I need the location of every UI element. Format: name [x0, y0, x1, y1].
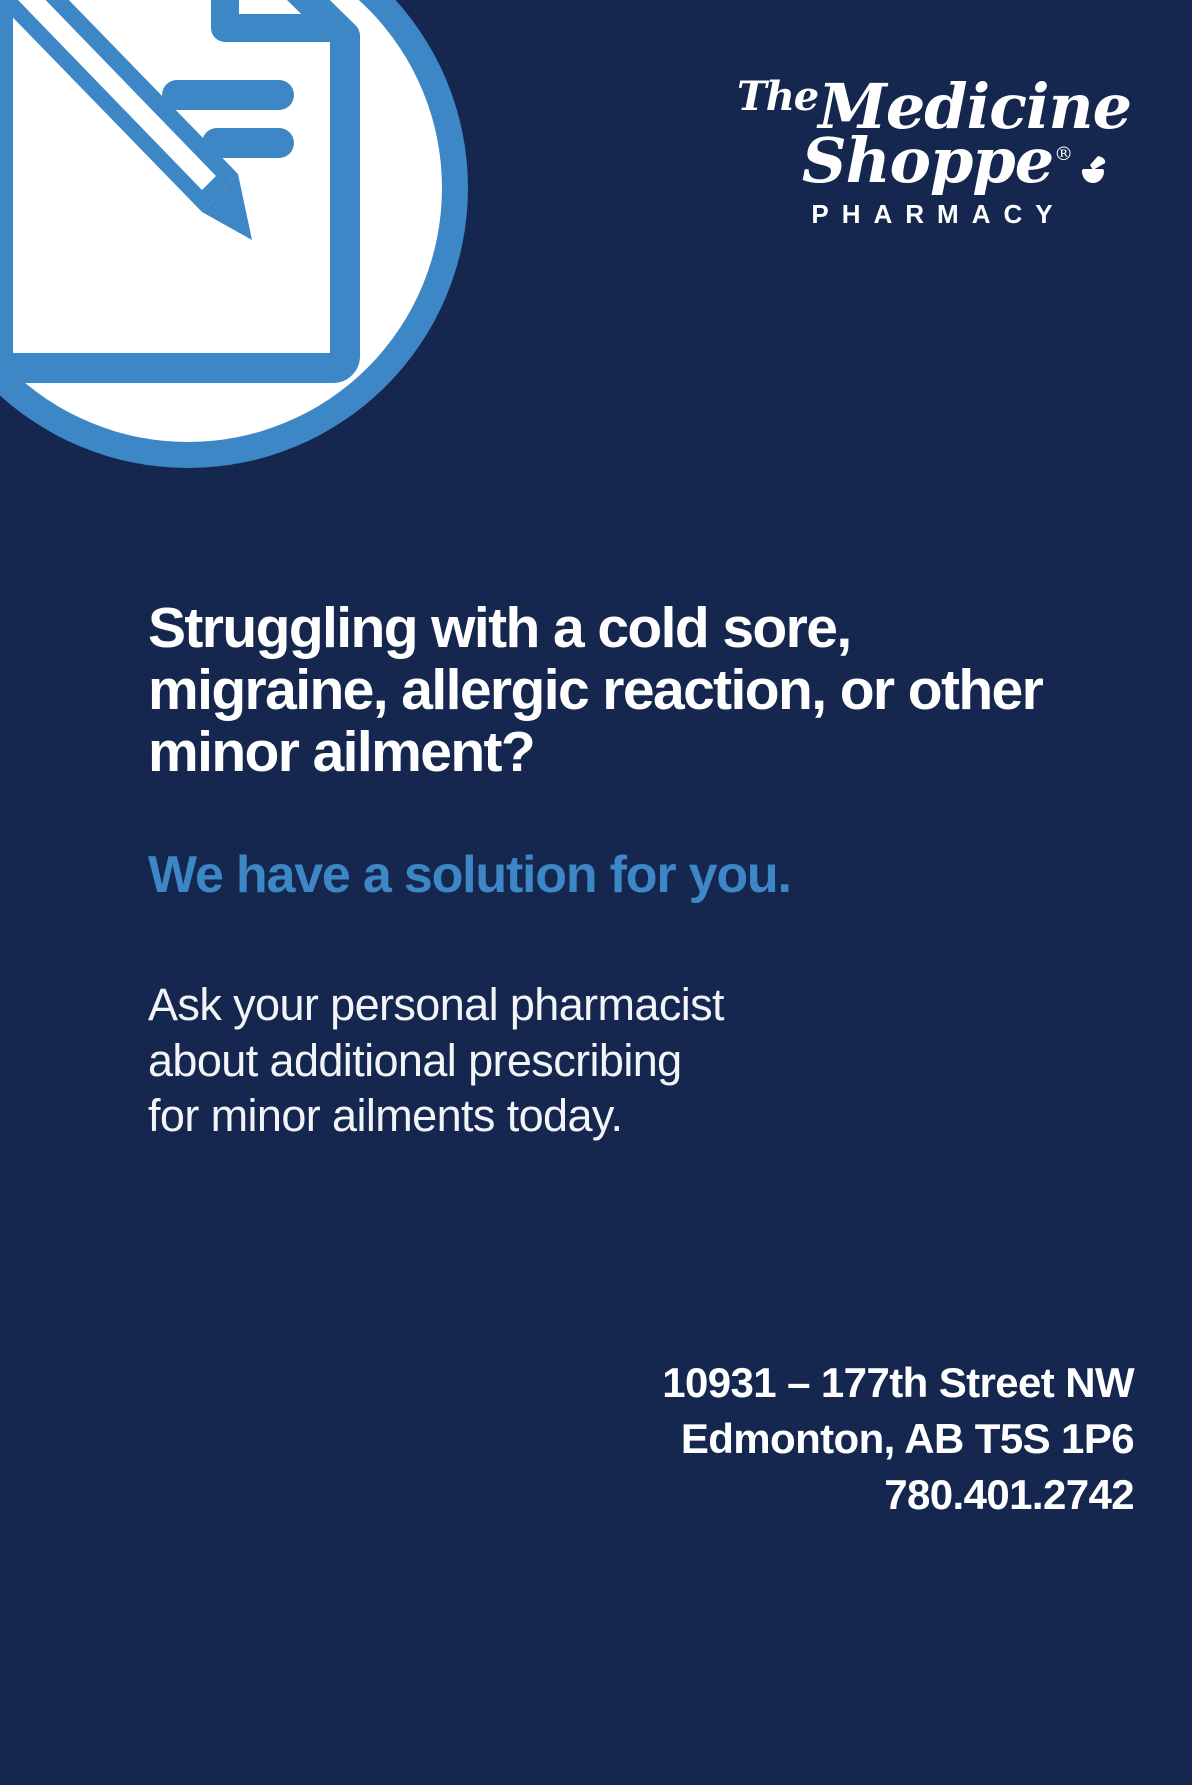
address-phone[interactable]: 780.401.2742 — [662, 1467, 1134, 1523]
badge-circle — [0, 0, 468, 468]
logo-pharmacy-label: PHARMACY — [710, 199, 1140, 230]
logo-shoppe: Shoppe — [802, 124, 1053, 197]
poster-content: Struggling with a cold sore, migraine, a… — [148, 597, 1048, 1143]
body-line-2: about additional prescribing — [148, 1033, 1048, 1088]
address-street: 10931 – 177th Street NW — [662, 1355, 1134, 1411]
document-with-pencil-icon — [0, 0, 430, 388]
store-address-block: 10931 – 177th Street NW Edmonton, AB T5S… — [662, 1355, 1134, 1523]
logo-the: The — [737, 73, 818, 120]
logo-wordmark: TheMedicine Shoppe® — [710, 78, 1140, 189]
brand-logo: TheMedicine Shoppe® PHARMACY — [710, 78, 1140, 230]
headline: Struggling with a cold sore, migraine, a… — [148, 597, 1048, 783]
body-line-3: for minor ailments today. — [148, 1088, 1048, 1143]
body-copy: Ask your personal pharmacist about addit… — [148, 977, 1048, 1143]
registered-trademark-icon: ® — [1054, 143, 1072, 165]
address-city: Edmonton, AB T5S 1P6 — [662, 1411, 1134, 1467]
mortar-and-pestle-icon — [1074, 153, 1108, 187]
subheadline: We have a solution for you. — [148, 845, 1048, 905]
body-line-1: Ask your personal pharmacist — [148, 977, 1048, 1032]
logo-line-two: Shoppe® — [710, 132, 1140, 190]
poster-canvas: TheMedicine Shoppe® PHARMACY Struggling … — [0, 0, 1192, 1785]
